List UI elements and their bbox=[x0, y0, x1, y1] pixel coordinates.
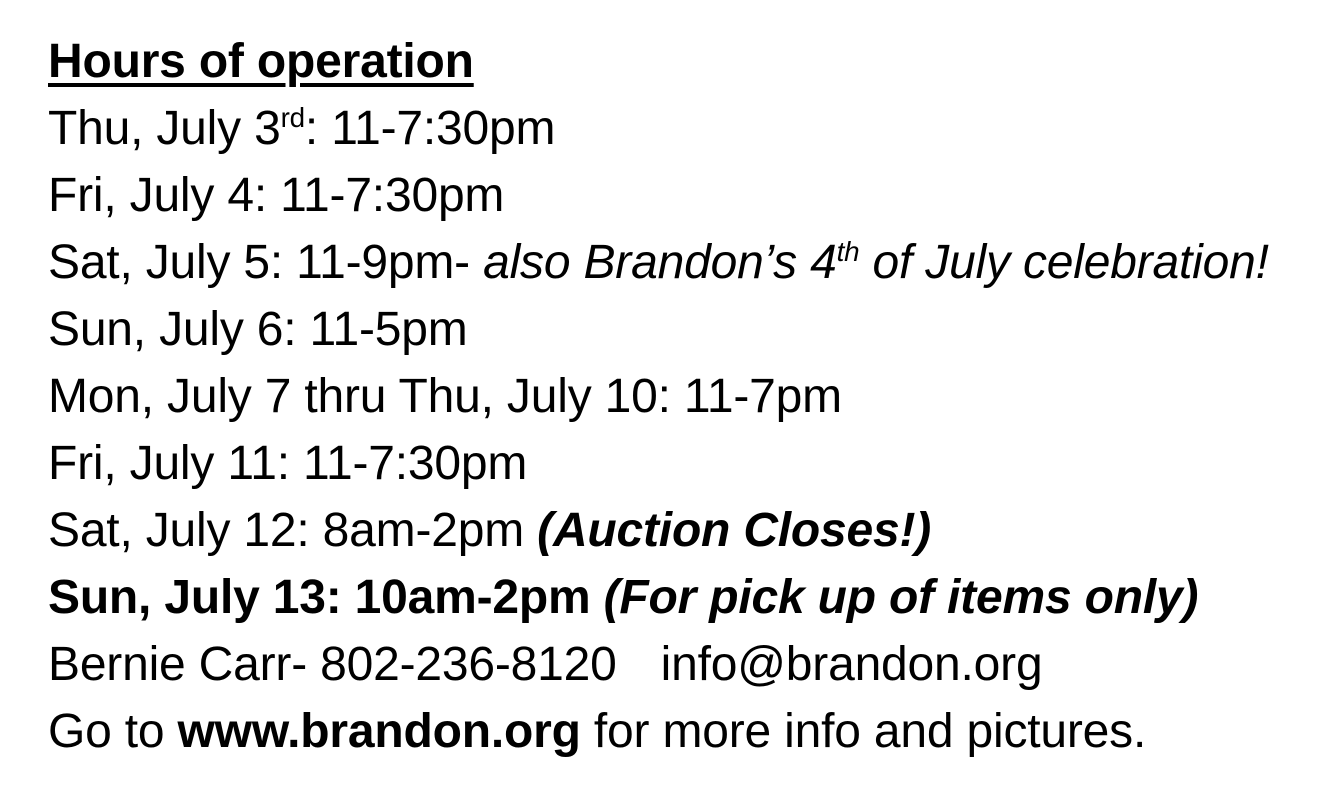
hours-line-sat-jul-12: Sat, July 12: 8am-2pm (Auction Closes!) bbox=[48, 497, 1326, 564]
hours-line-sun-jul-6: Sun, July 6: 11-5pm bbox=[48, 296, 1326, 363]
contact-email[interactable]: info@brandon.org bbox=[661, 638, 1043, 691]
sat-jul-5-note-prefix: also Brandon’s 4 bbox=[483, 236, 837, 289]
website-prefix: Go to bbox=[48, 705, 178, 758]
website-line: Go to www.brandon.org for more info and … bbox=[48, 698, 1326, 765]
sat-jul-5-note-suffix: of July celebration! bbox=[859, 236, 1268, 289]
hours-line-sun-jul-13: Sun, July 13: 10am-2pm (For pick up of i… bbox=[48, 564, 1326, 631]
heading-row: Hours of operation bbox=[48, 28, 1326, 95]
thu-jul-3-prefix: Thu, July 3 bbox=[48, 102, 281, 155]
page-title: Hours of operation bbox=[48, 28, 474, 95]
pickup-only-note: (For pick up of items only) bbox=[604, 571, 1199, 624]
hours-line-thu-jul-3: Thu, July 3rd: 11-7:30pm bbox=[48, 95, 1326, 162]
sat-jul-12-hours: Sat, July 12: 8am-2pm bbox=[48, 504, 537, 557]
hours-line-fri-jul-11: Fri, July 11: 11-7:30pm bbox=[48, 430, 1326, 497]
hours-line-fri-jul-4: Fri, July 4: 11-7:30pm bbox=[48, 162, 1326, 229]
hours-line-sat-jul-5: Sat, July 5: 11-9pm- also Brandon’s 4th … bbox=[48, 229, 1326, 296]
contact-name-phone: Bernie Carr- 802-236-8120 bbox=[48, 638, 617, 691]
sat-jul-5-ordinal-suffix: th bbox=[837, 236, 860, 267]
auction-closes-note: (Auction Closes!) bbox=[537, 504, 931, 557]
website-url[interactable]: www.brandon.org bbox=[178, 705, 581, 758]
sat-jul-5-hours: Sat, July 5: 11-9pm- bbox=[48, 236, 483, 289]
thu-jul-3-hours: : 11-7:30pm bbox=[305, 102, 555, 155]
website-suffix: for more info and pictures. bbox=[581, 705, 1146, 758]
thu-jul-3-ordinal-suffix: rd bbox=[281, 102, 305, 133]
flyer-body: Hours of operation Thu, July 3rd: 11-7:3… bbox=[0, 0, 1326, 803]
sun-jul-13-hours: Sun, July 13: 10am-2pm bbox=[48, 571, 604, 624]
contact-line: Bernie Carr- 802-236-8120info@brandon.or… bbox=[48, 631, 1326, 698]
hours-line-mon-jul-7-thru-thu-jul-10: Mon, July 7 thru Thu, July 10: 11-7pm bbox=[48, 363, 1326, 430]
